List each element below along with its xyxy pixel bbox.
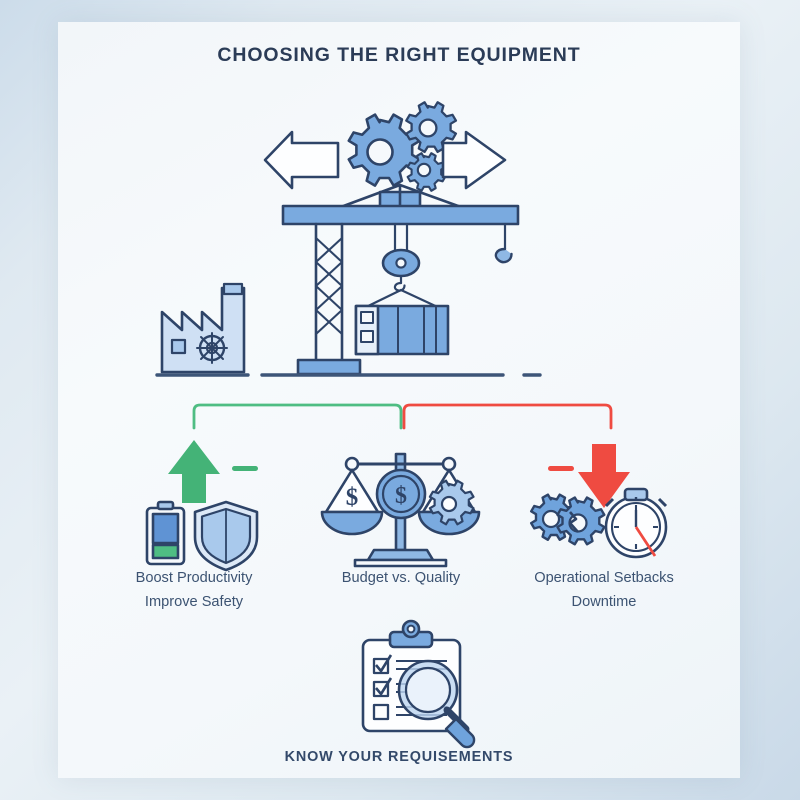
infographic-poster: CHOOSING THE RIGHT EQUIPMENT: [0, 0, 800, 800]
footer-illustration: KNOW YOUR REQUISEMENTS: [0, 0, 800, 800]
footer-caption: KNOW YOUR REQUISEMENTS: [285, 749, 514, 765]
magnifier-icon: [399, 661, 474, 747]
illustration-stage: CHOOSING THE RIGHT EQUIPMENT: [0, 0, 800, 800]
